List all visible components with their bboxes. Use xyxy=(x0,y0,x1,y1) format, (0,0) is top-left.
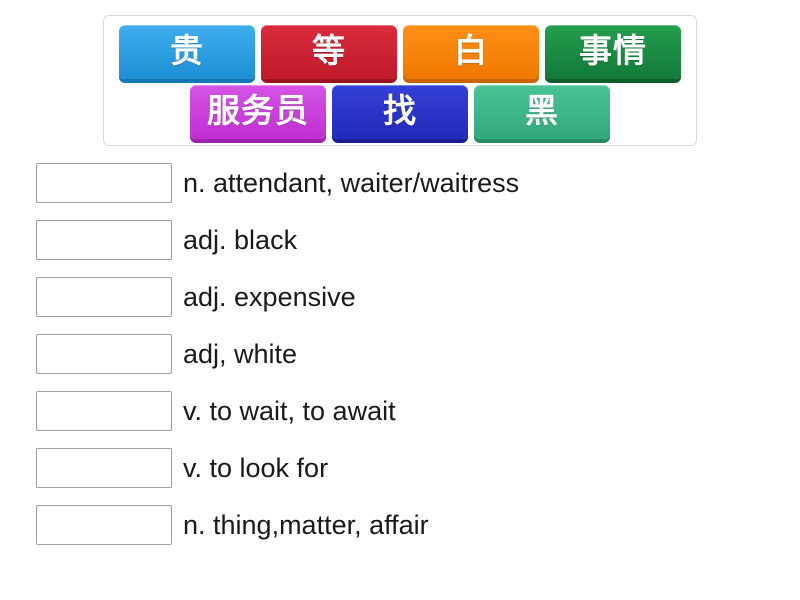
answer-row: v. to wait, to await xyxy=(0,391,800,431)
word-tile-label: 等 xyxy=(312,34,346,67)
answer-drop-box[interactable] xyxy=(36,220,172,260)
word-tile[interactable]: 白 xyxy=(403,25,539,79)
word-tile-label: 贵 xyxy=(170,34,204,67)
answer-definition: v. to wait, to await xyxy=(183,398,396,425)
word-bank-row-2: 服务员找黑 xyxy=(104,79,696,139)
word-tile[interactable]: 事情 xyxy=(545,25,681,79)
answer-row: adj, white xyxy=(0,334,800,374)
answer-drop-box[interactable] xyxy=(36,163,172,203)
word-tile[interactable]: 等 xyxy=(261,25,397,79)
word-tile-label: 找 xyxy=(383,94,417,127)
answer-row: n. thing,matter, affair xyxy=(0,505,800,545)
answer-row: adj. expensive xyxy=(0,277,800,317)
word-tile[interactable]: 贵 xyxy=(119,25,255,79)
answer-definition: v. to look for xyxy=(183,455,328,482)
answer-list: n. attendant, waiter/waitressadj. blacka… xyxy=(0,163,800,562)
answer-definition: adj, white xyxy=(183,341,297,368)
answer-drop-box[interactable] xyxy=(36,334,172,374)
word-tile-label: 白 xyxy=(454,34,488,67)
answer-drop-box[interactable] xyxy=(36,277,172,317)
answer-row: n. attendant, waiter/waitress xyxy=(0,163,800,203)
answer-definition: n. thing,matter, affair xyxy=(183,512,429,539)
answer-definition: adj. expensive xyxy=(183,284,356,311)
word-bank: 贵等白事情 服务员找黑 xyxy=(103,15,697,146)
answer-definition: adj. black xyxy=(183,227,297,254)
word-tile[interactable]: 找 xyxy=(332,85,468,139)
answer-drop-box[interactable] xyxy=(36,505,172,545)
word-tile-label: 黑 xyxy=(525,94,559,127)
answer-row: v. to look for xyxy=(0,448,800,488)
word-tile-label: 事情 xyxy=(579,34,647,67)
answer-drop-box[interactable] xyxy=(36,391,172,431)
answer-definition: n. attendant, waiter/waitress xyxy=(183,170,519,197)
word-bank-row-1: 贵等白事情 xyxy=(104,16,696,79)
answer-row: adj. black xyxy=(0,220,800,260)
word-tile-label: 服务员 xyxy=(207,94,309,127)
word-tile[interactable]: 黑 xyxy=(474,85,610,139)
word-tile[interactable]: 服务员 xyxy=(190,85,326,139)
answer-drop-box[interactable] xyxy=(36,448,172,488)
